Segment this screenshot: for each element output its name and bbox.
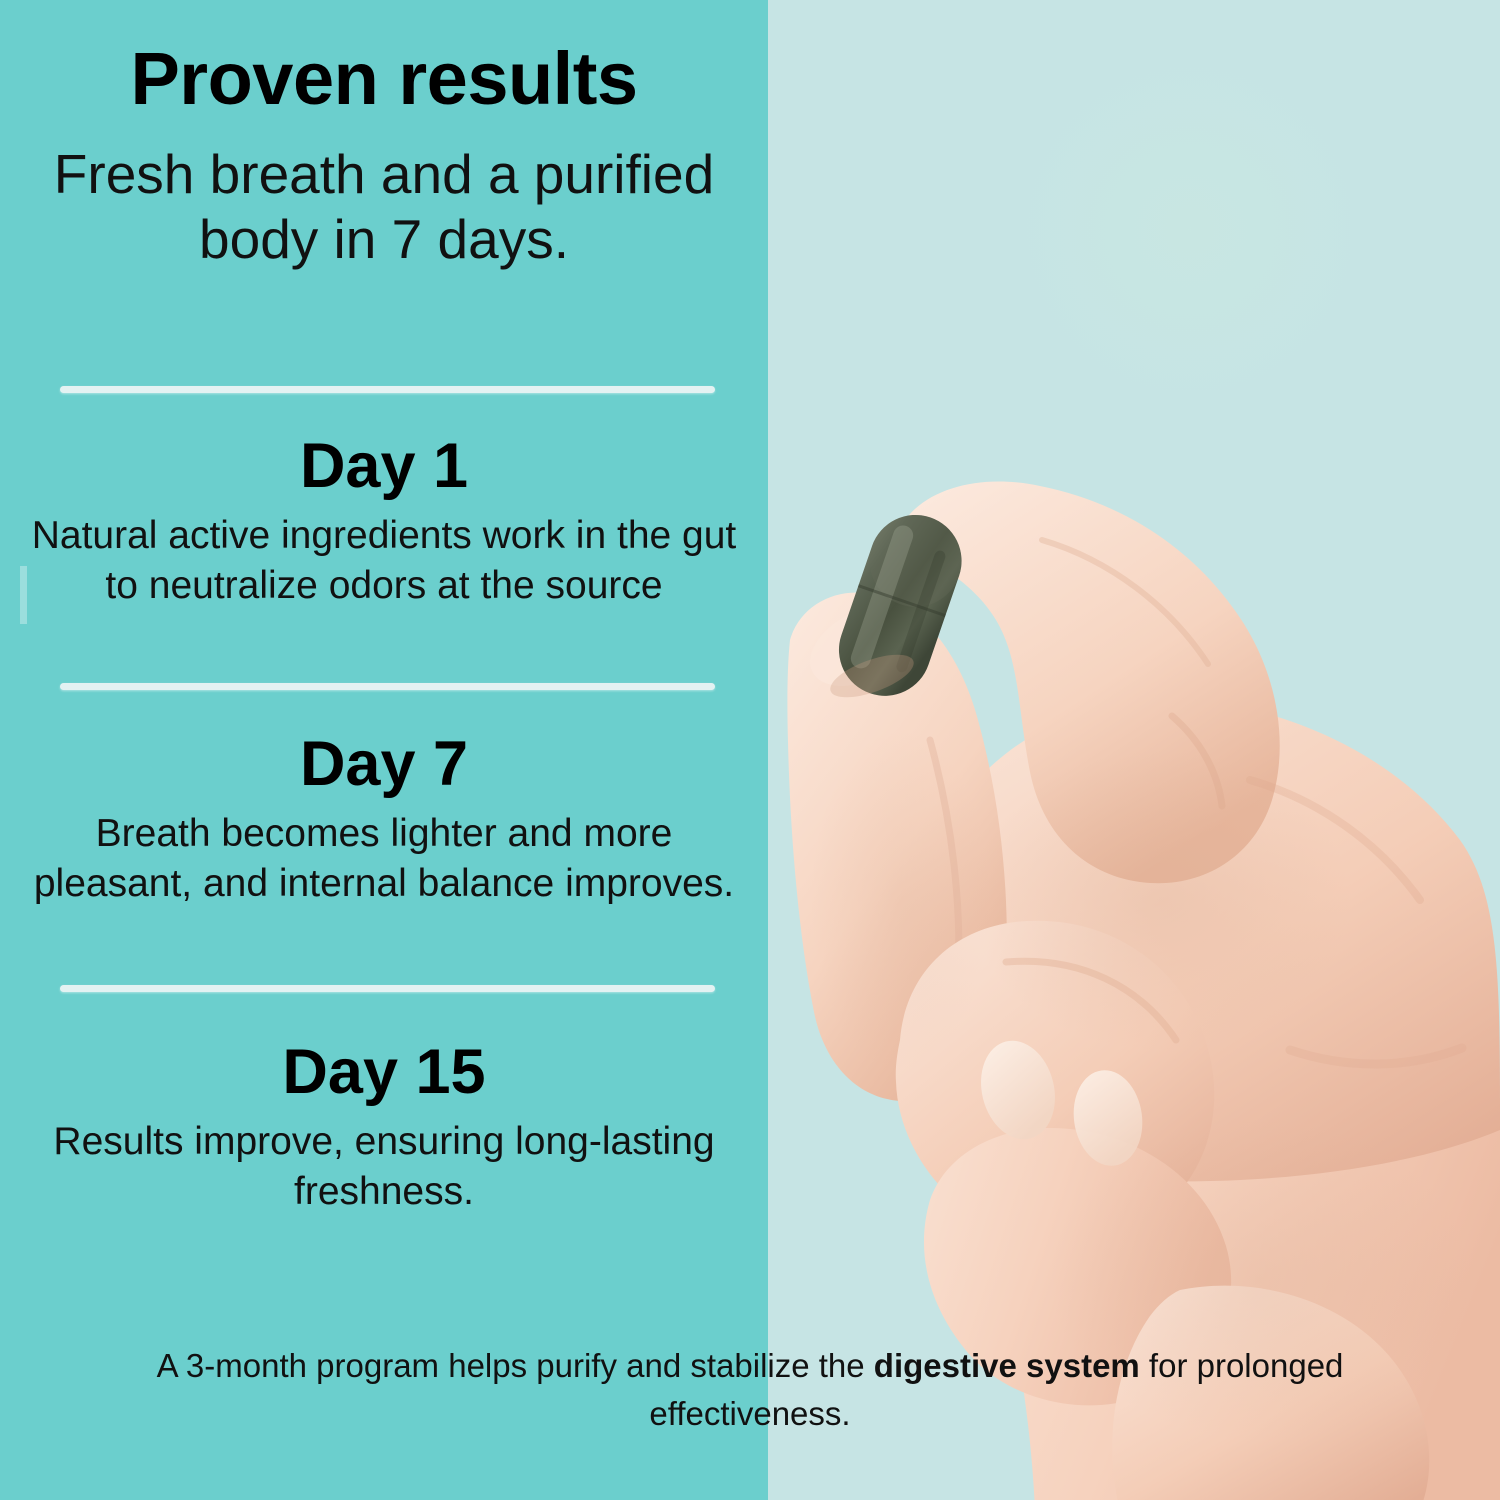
- step-3-title: Day 15: [0, 1038, 768, 1107]
- page-title: Proven results: [0, 40, 768, 118]
- text-layer: Proven results Fresh breath and a purifi…: [0, 0, 1500, 1500]
- step-1-body: Natural active ingredients work in the g…: [0, 511, 768, 611]
- footnote-lead: A 3-month program helps purify and stabi…: [157, 1347, 874, 1384]
- step-3-body: Results improve, ensuring long-lasting f…: [0, 1117, 768, 1217]
- page-subtitle: Fresh breath and a purified body in 7 da…: [24, 142, 744, 272]
- timeline-step-day-15: Day 15 Results improve, ensuring long-la…: [0, 1038, 768, 1217]
- timeline-step-day-7: Day 7 Breath becomes lighter and more pl…: [0, 730, 768, 909]
- step-2-body: Breath becomes lighter and more pleasant…: [0, 809, 768, 909]
- divider-3: [60, 985, 715, 992]
- infographic-canvas: Proven results Fresh breath and a purifi…: [0, 0, 1500, 1500]
- timeline-step-day-1: Day 1 Natural active ingredients work in…: [0, 432, 768, 611]
- footnote: A 3-month program helps purify and stabi…: [150, 1342, 1350, 1438]
- step-2-title: Day 7: [0, 730, 768, 799]
- divider-2: [60, 683, 715, 690]
- divider-1: [60, 386, 715, 393]
- step-1-title: Day 1: [0, 432, 768, 501]
- footnote-emphasis: digestive system: [874, 1347, 1140, 1384]
